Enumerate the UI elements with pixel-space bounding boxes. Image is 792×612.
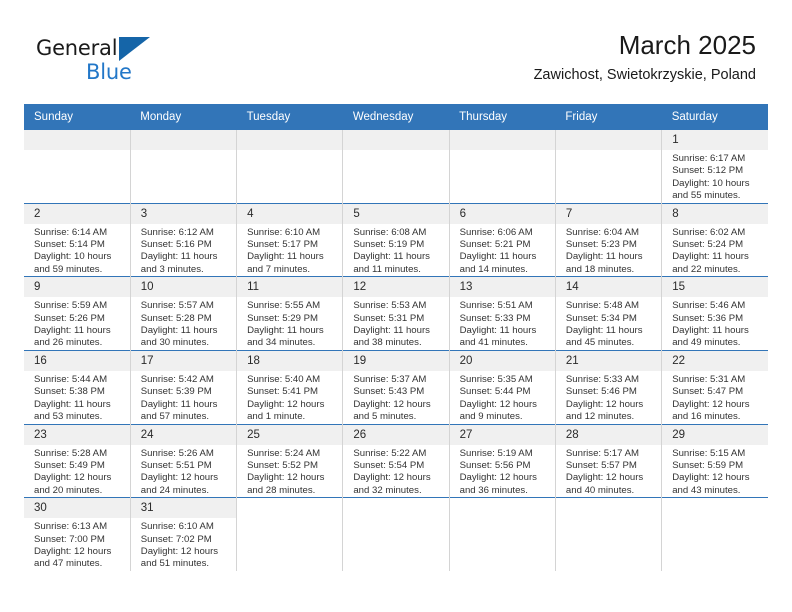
daylight-text: Daylight: 11 hours [141,251,230,263]
calendar-table: SundayMondayTuesdayWednesdayThursdayFrid… [24,104,768,571]
sunset-text: Sunset: 5:17 PM [247,239,336,251]
sunrise-text: Sunrise: 5:37 AM [353,374,442,386]
sunrise-text: Sunrise: 6:14 AM [34,227,124,239]
daylight-text: and 9 minutes. [460,411,549,423]
day-number: 2 [24,204,130,224]
sunset-text: Sunset: 5:26 PM [34,313,124,325]
daylight-text: Daylight: 11 hours [566,325,655,337]
logo-text-blue: Blue [86,60,132,84]
flag-triangle-icon [119,37,150,61]
day-details: Sunrise: 5:17 AMSunset: 5:57 PMDaylight:… [556,445,661,498]
day-cell[interactable]: 11Sunrise: 5:55 AMSunset: 5:29 PMDayligh… [237,277,343,351]
day-number [343,130,448,150]
daylight-text: Daylight: 12 hours [353,472,442,484]
day-details: Sunrise: 5:48 AMSunset: 5:34 PMDaylight:… [556,297,661,350]
day-cell-empty [555,498,661,571]
general-blue-logo[interactable]: General Blue [36,36,176,94]
sunset-text: Sunset: 5:43 PM [353,386,442,398]
daylight-text: and 20 minutes. [34,485,124,497]
day-details: Sunrise: 5:37 AMSunset: 5:43 PMDaylight:… [343,371,448,424]
daylight-text: Daylight: 12 hours [460,472,549,484]
day-cell[interactable]: 5Sunrise: 6:08 AMSunset: 5:19 PMDaylight… [343,203,449,277]
day-cell-blank [343,130,449,203]
daylight-text: and 32 minutes. [353,485,442,497]
daylight-text: Daylight: 11 hours [460,325,549,337]
day-details: Sunrise: 5:42 AMSunset: 5:39 PMDaylight:… [131,371,236,424]
day-number: 17 [131,351,236,371]
sunset-text: Sunset: 5:47 PM [672,386,762,398]
day-details: Sunrise: 5:26 AMSunset: 5:51 PMDaylight:… [131,445,236,498]
day-cell[interactable]: 15Sunrise: 5:46 AMSunset: 5:36 PMDayligh… [662,277,768,351]
day-cell[interactable]: 14Sunrise: 5:48 AMSunset: 5:34 PMDayligh… [555,277,661,351]
day-cell-blank [555,130,661,203]
sunset-text: Sunset: 5:44 PM [460,386,549,398]
day-number: 21 [556,351,661,371]
calendar-grid: SundayMondayTuesdayWednesdayThursdayFrid… [24,104,768,571]
daylight-text: Daylight: 10 hours [672,178,762,190]
day-number: 4 [237,204,342,224]
sunrise-text: Sunrise: 5:40 AM [247,374,336,386]
day-cell[interactable]: 18Sunrise: 5:40 AMSunset: 5:41 PMDayligh… [237,350,343,424]
week-row: 2Sunrise: 6:14 AMSunset: 5:14 PMDaylight… [24,203,768,277]
sunset-text: Sunset: 5:23 PM [566,239,655,251]
day-details: Sunrise: 5:55 AMSunset: 5:29 PMDaylight:… [237,297,342,350]
day-cell-empty [237,498,343,571]
day-number: 8 [662,204,768,224]
day-cell[interactable]: 21Sunrise: 5:33 AMSunset: 5:46 PMDayligh… [555,350,661,424]
daylight-text: and 45 minutes. [566,337,655,349]
day-cell-blank [449,130,555,203]
day-details: Sunrise: 6:17 AMSunset: 5:12 PMDaylight:… [662,150,768,203]
daylight-text: Daylight: 12 hours [247,399,336,411]
daylight-text: Daylight: 12 hours [34,472,124,484]
sunset-text: Sunset: 5:28 PM [141,313,230,325]
daylight-text: Daylight: 11 hours [141,399,230,411]
day-cell[interactable]: 22Sunrise: 5:31 AMSunset: 5:47 PMDayligh… [662,350,768,424]
day-cell[interactable]: 26Sunrise: 5:22 AMSunset: 5:54 PMDayligh… [343,424,449,498]
daylight-text: and 34 minutes. [247,337,336,349]
week-row: 23Sunrise: 5:28 AMSunset: 5:49 PMDayligh… [24,424,768,498]
page-title: March 2025 [534,28,756,62]
day-number: 6 [450,204,555,224]
day-number: 27 [450,425,555,445]
weekday-header-friday: Friday [555,104,661,130]
sunrise-text: Sunrise: 6:02 AM [672,227,762,239]
daylight-text: Daylight: 11 hours [672,325,762,337]
sunset-text: Sunset: 5:24 PM [672,239,762,251]
weekday-header-tuesday: Tuesday [237,104,343,130]
sunset-text: Sunset: 5:31 PM [353,313,442,325]
day-details: Sunrise: 6:10 AMSunset: 7:02 PMDaylight:… [131,518,236,571]
daylight-text: and 38 minutes. [353,337,442,349]
daylight-text: Daylight: 11 hours [34,325,124,337]
day-details: Sunrise: 6:12 AMSunset: 5:16 PMDaylight:… [131,224,236,277]
daylight-text: and 16 minutes. [672,411,762,423]
day-details: Sunrise: 5:33 AMSunset: 5:46 PMDaylight:… [556,371,661,424]
day-number: 28 [556,425,661,445]
daylight-text: Daylight: 11 hours [566,251,655,263]
day-cell[interactable]: 4Sunrise: 6:10 AMSunset: 5:17 PMDaylight… [237,203,343,277]
sunset-text: Sunset: 5:12 PM [672,165,762,177]
daylight-text: and 22 minutes. [672,264,762,276]
sunrise-text: Sunrise: 5:17 AM [566,448,655,460]
daylight-text: Daylight: 12 hours [460,399,549,411]
daylight-text: Daylight: 10 hours [34,251,124,263]
sunset-text: Sunset: 5:41 PM [247,386,336,398]
daylight-text: and 36 minutes. [460,485,549,497]
day-cell[interactable]: 19Sunrise: 5:37 AMSunset: 5:43 PMDayligh… [343,350,449,424]
sunset-text: Sunset: 5:57 PM [566,460,655,472]
sunrise-text: Sunrise: 5:51 AM [460,300,549,312]
sunset-text: Sunset: 5:49 PM [34,460,124,472]
sunset-text: Sunset: 7:00 PM [34,534,124,546]
day-details: Sunrise: 5:35 AMSunset: 5:44 PMDaylight:… [450,371,555,424]
daylight-text: and 30 minutes. [141,337,230,349]
day-number: 22 [662,351,768,371]
daylight-text: and 55 minutes. [672,190,762,202]
sunset-text: Sunset: 5:54 PM [353,460,442,472]
masthead: General Blue March 2025 Zawichost, Swiet… [24,28,768,98]
sunrise-text: Sunrise: 5:28 AM [34,448,124,460]
day-number [450,130,555,150]
sunrise-text: Sunrise: 6:04 AM [566,227,655,239]
daylight-text: Daylight: 12 hours [566,399,655,411]
day-cell-empty [449,498,555,571]
day-cell[interactable]: 7Sunrise: 6:04 AMSunset: 5:23 PMDaylight… [555,203,661,277]
daylight-text: and 5 minutes. [353,411,442,423]
day-cell[interactable]: 25Sunrise: 5:24 AMSunset: 5:52 PMDayligh… [237,424,343,498]
day-number: 7 [556,204,661,224]
day-number: 3 [131,204,236,224]
daylight-text: and 43 minutes. [672,485,762,497]
daylight-text: Daylight: 11 hours [353,325,442,337]
day-details: Sunrise: 6:04 AMSunset: 5:23 PMDaylight:… [556,224,661,277]
logo-text-general: General [36,36,117,60]
day-number [24,130,130,150]
day-details: Sunrise: 5:24 AMSunset: 5:52 PMDaylight:… [237,445,342,498]
day-details: Sunrise: 6:14 AMSunset: 5:14 PMDaylight:… [24,224,130,277]
daylight-text: Daylight: 11 hours [141,325,230,337]
sunset-text: Sunset: 5:29 PM [247,313,336,325]
day-details: Sunrise: 6:02 AMSunset: 5:24 PMDaylight:… [662,224,768,277]
sunrise-text: Sunrise: 5:46 AM [672,300,762,312]
sunrise-text: Sunrise: 5:33 AM [566,374,655,386]
day-number: 19 [343,351,448,371]
day-number: 9 [24,277,130,297]
sunrise-text: Sunrise: 5:15 AM [672,448,762,460]
day-number: 25 [237,425,342,445]
sunrise-text: Sunrise: 5:55 AM [247,300,336,312]
day-cell[interactable]: 30Sunrise: 6:13 AMSunset: 7:00 PMDayligh… [24,498,130,571]
day-number: 18 [237,351,342,371]
weekday-header-sunday: Sunday [24,104,130,130]
day-cell-blank [237,130,343,203]
day-number: 16 [24,351,130,371]
daylight-text: Daylight: 12 hours [353,399,442,411]
sunrise-text: Sunrise: 6:06 AM [460,227,549,239]
sunset-text: Sunset: 5:56 PM [460,460,549,472]
page-subtitle: Zawichost, Swietokrzyskie, Poland [534,64,756,86]
day-number: 10 [131,277,236,297]
sunrise-text: Sunrise: 6:12 AM [141,227,230,239]
day-details: Sunrise: 5:31 AMSunset: 5:47 PMDaylight:… [662,371,768,424]
weekday-header-monday: Monday [130,104,236,130]
day-details: Sunrise: 5:28 AMSunset: 5:49 PMDaylight:… [24,445,130,498]
day-number [131,130,236,150]
day-details: Sunrise: 5:44 AMSunset: 5:38 PMDaylight:… [24,371,130,424]
daylight-text: Daylight: 12 hours [141,472,230,484]
day-cell[interactable]: 27Sunrise: 5:19 AMSunset: 5:56 PMDayligh… [449,424,555,498]
day-number: 26 [343,425,448,445]
daylight-text: and 51 minutes. [141,558,230,570]
sunset-text: Sunset: 5:14 PM [34,239,124,251]
day-number [556,130,661,150]
daylight-text: Daylight: 12 hours [672,472,762,484]
calendar-page: General Blue March 2025 Zawichost, Swiet… [0,0,792,612]
daylight-text: Daylight: 11 hours [247,325,336,337]
daylight-text: and 3 minutes. [141,264,230,276]
daylight-text: Daylight: 11 hours [247,251,336,263]
sunset-text: Sunset: 5:33 PM [460,313,549,325]
daylight-text: and 12 minutes. [566,411,655,423]
day-cell-empty [343,498,449,571]
daylight-text: and 11 minutes. [353,264,442,276]
sunset-text: Sunset: 5:36 PM [672,313,762,325]
daylight-text: Daylight: 11 hours [353,251,442,263]
daylight-text: Daylight: 12 hours [672,399,762,411]
daylight-text: and 28 minutes. [247,485,336,497]
daylight-text: and 7 minutes. [247,264,336,276]
daylight-text: Daylight: 11 hours [460,251,549,263]
week-row: 1Sunrise: 6:17 AMSunset: 5:12 PMDaylight… [24,130,768,203]
day-cell[interactable]: 13Sunrise: 5:51 AMSunset: 5:33 PMDayligh… [449,277,555,351]
sunset-text: Sunset: 5:46 PM [566,386,655,398]
sunset-text: Sunset: 5:59 PM [672,460,762,472]
day-details: Sunrise: 5:53 AMSunset: 5:31 PMDaylight:… [343,297,448,350]
day-number: 24 [131,425,236,445]
sunrise-text: Sunrise: 5:53 AM [353,300,442,312]
day-cell[interactable]: 17Sunrise: 5:42 AMSunset: 5:39 PMDayligh… [130,350,236,424]
day-number: 30 [24,498,130,518]
day-details: Sunrise: 5:15 AMSunset: 5:59 PMDaylight:… [662,445,768,498]
day-cell-blank [24,130,130,203]
sunrise-text: Sunrise: 5:35 AM [460,374,549,386]
day-number: 13 [450,277,555,297]
day-details: Sunrise: 5:51 AMSunset: 5:33 PMDaylight:… [450,297,555,350]
daylight-text: Daylight: 11 hours [672,251,762,263]
day-number: 20 [450,351,555,371]
day-cell[interactable]: 3Sunrise: 6:12 AMSunset: 5:16 PMDaylight… [130,203,236,277]
day-details: Sunrise: 6:06 AMSunset: 5:21 PMDaylight:… [450,224,555,277]
day-cell[interactable]: 6Sunrise: 6:06 AMSunset: 5:21 PMDaylight… [449,203,555,277]
sunrise-text: Sunrise: 5:22 AM [353,448,442,460]
sunset-text: Sunset: 5:52 PM [247,460,336,472]
daylight-text: and 57 minutes. [141,411,230,423]
day-number [237,130,342,150]
daylight-text: and 18 minutes. [566,264,655,276]
sunrise-text: Sunrise: 5:31 AM [672,374,762,386]
sunrise-text: Sunrise: 5:57 AM [141,300,230,312]
day-cell[interactable]: 31Sunrise: 6:10 AMSunset: 7:02 PMDayligh… [130,498,236,571]
day-details: Sunrise: 6:10 AMSunset: 5:17 PMDaylight:… [237,224,342,277]
sunset-text: Sunset: 5:38 PM [34,386,124,398]
day-cell[interactable]: 20Sunrise: 5:35 AMSunset: 5:44 PMDayligh… [449,350,555,424]
day-cell[interactable]: 10Sunrise: 5:57 AMSunset: 5:28 PMDayligh… [130,277,236,351]
daylight-text: and 47 minutes. [34,558,124,570]
daylight-text: and 26 minutes. [34,337,124,349]
day-cell[interactable]: 8Sunrise: 6:02 AMSunset: 5:24 PMDaylight… [662,203,768,277]
day-cell[interactable]: 2Sunrise: 6:14 AMSunset: 5:14 PMDaylight… [24,203,130,277]
calendar-header-row: SundayMondayTuesdayWednesdayThursdayFrid… [24,104,768,130]
sunset-text: Sunset: 5:51 PM [141,460,230,472]
day-number: 11 [237,277,342,297]
day-cell[interactable]: 24Sunrise: 5:26 AMSunset: 5:51 PMDayligh… [130,424,236,498]
day-number: 12 [343,277,448,297]
calendar-body: 1Sunrise: 6:17 AMSunset: 5:12 PMDaylight… [24,130,768,571]
day-details: Sunrise: 5:40 AMSunset: 5:41 PMDaylight:… [237,371,342,424]
day-cell[interactable]: 28Sunrise: 5:17 AMSunset: 5:57 PMDayligh… [555,424,661,498]
daylight-text: and 41 minutes. [460,337,549,349]
week-row: 9Sunrise: 5:59 AMSunset: 5:26 PMDaylight… [24,277,768,351]
sunrise-text: Sunrise: 5:24 AM [247,448,336,460]
daylight-text: and 14 minutes. [460,264,549,276]
sunrise-text: Sunrise: 6:10 AM [247,227,336,239]
daylight-text: and 59 minutes. [34,264,124,276]
daylight-text: Daylight: 12 hours [141,546,230,558]
day-details: Sunrise: 6:08 AMSunset: 5:19 PMDaylight:… [343,224,448,277]
day-number: 23 [24,425,130,445]
day-details: Sunrise: 5:19 AMSunset: 5:56 PMDaylight:… [450,445,555,498]
daylight-text: and 49 minutes. [672,337,762,349]
daylight-text: Daylight: 12 hours [566,472,655,484]
sunrise-text: Sunrise: 5:48 AM [566,300,655,312]
sunrise-text: Sunrise: 6:10 AM [141,521,230,533]
sunset-text: Sunset: 5:39 PM [141,386,230,398]
day-cell[interactable]: 23Sunrise: 5:28 AMSunset: 5:49 PMDayligh… [24,424,130,498]
title-block: March 2025 Zawichost, Swietokrzyskie, Po… [534,28,756,86]
sunrise-text: Sunrise: 5:19 AM [460,448,549,460]
sunset-text: Sunset: 5:21 PM [460,239,549,251]
day-details: Sunrise: 6:13 AMSunset: 7:00 PMDaylight:… [24,518,130,571]
sunrise-text: Sunrise: 6:08 AM [353,227,442,239]
day-cell[interactable]: 16Sunrise: 5:44 AMSunset: 5:38 PMDayligh… [24,350,130,424]
day-number: 29 [662,425,768,445]
day-cell[interactable]: 1Sunrise: 6:17 AMSunset: 5:12 PMDaylight… [662,130,768,203]
weekday-header-saturday: Saturday [662,104,768,130]
day-cell[interactable]: 9Sunrise: 5:59 AMSunset: 5:26 PMDaylight… [24,277,130,351]
week-row: 16Sunrise: 5:44 AMSunset: 5:38 PMDayligh… [24,350,768,424]
day-details: Sunrise: 5:46 AMSunset: 5:36 PMDaylight:… [662,297,768,350]
daylight-text: Daylight: 12 hours [34,546,124,558]
sunrise-text: Sunrise: 5:59 AM [34,300,124,312]
daylight-text: Daylight: 11 hours [34,399,124,411]
day-number: 1 [662,130,768,150]
week-row: 30Sunrise: 6:13 AMSunset: 7:00 PMDayligh… [24,498,768,571]
sunset-text: Sunset: 5:19 PM [353,239,442,251]
daylight-text: Daylight: 12 hours [247,472,336,484]
weekday-header-wednesday: Wednesday [343,104,449,130]
sunrise-text: Sunrise: 5:26 AM [141,448,230,460]
sunrise-text: Sunrise: 6:13 AM [34,521,124,533]
sunset-text: Sunset: 5:16 PM [141,239,230,251]
weekday-header-thursday: Thursday [449,104,555,130]
day-number: 5 [343,204,448,224]
day-details: Sunrise: 5:57 AMSunset: 5:28 PMDaylight:… [131,297,236,350]
day-cell[interactable]: 29Sunrise: 5:15 AMSunset: 5:59 PMDayligh… [662,424,768,498]
daylight-text: and 1 minute. [247,411,336,423]
sunset-text: Sunset: 5:34 PM [566,313,655,325]
day-cell[interactable]: 12Sunrise: 5:53 AMSunset: 5:31 PMDayligh… [343,277,449,351]
day-number: 14 [556,277,661,297]
day-number: 15 [662,277,768,297]
sunrise-text: Sunrise: 6:17 AM [672,153,762,165]
sunset-text: Sunset: 7:02 PM [141,534,230,546]
day-cell-empty [662,498,768,571]
day-details: Sunrise: 5:59 AMSunset: 5:26 PMDaylight:… [24,297,130,350]
day-cell-blank [130,130,236,203]
sunrise-text: Sunrise: 5:42 AM [141,374,230,386]
sunrise-text: Sunrise: 5:44 AM [34,374,124,386]
day-number: 31 [131,498,236,518]
daylight-text: and 40 minutes. [566,485,655,497]
daylight-text: and 53 minutes. [34,411,124,423]
daylight-text: and 24 minutes. [141,485,230,497]
day-details: Sunrise: 5:22 AMSunset: 5:54 PMDaylight:… [343,445,448,498]
